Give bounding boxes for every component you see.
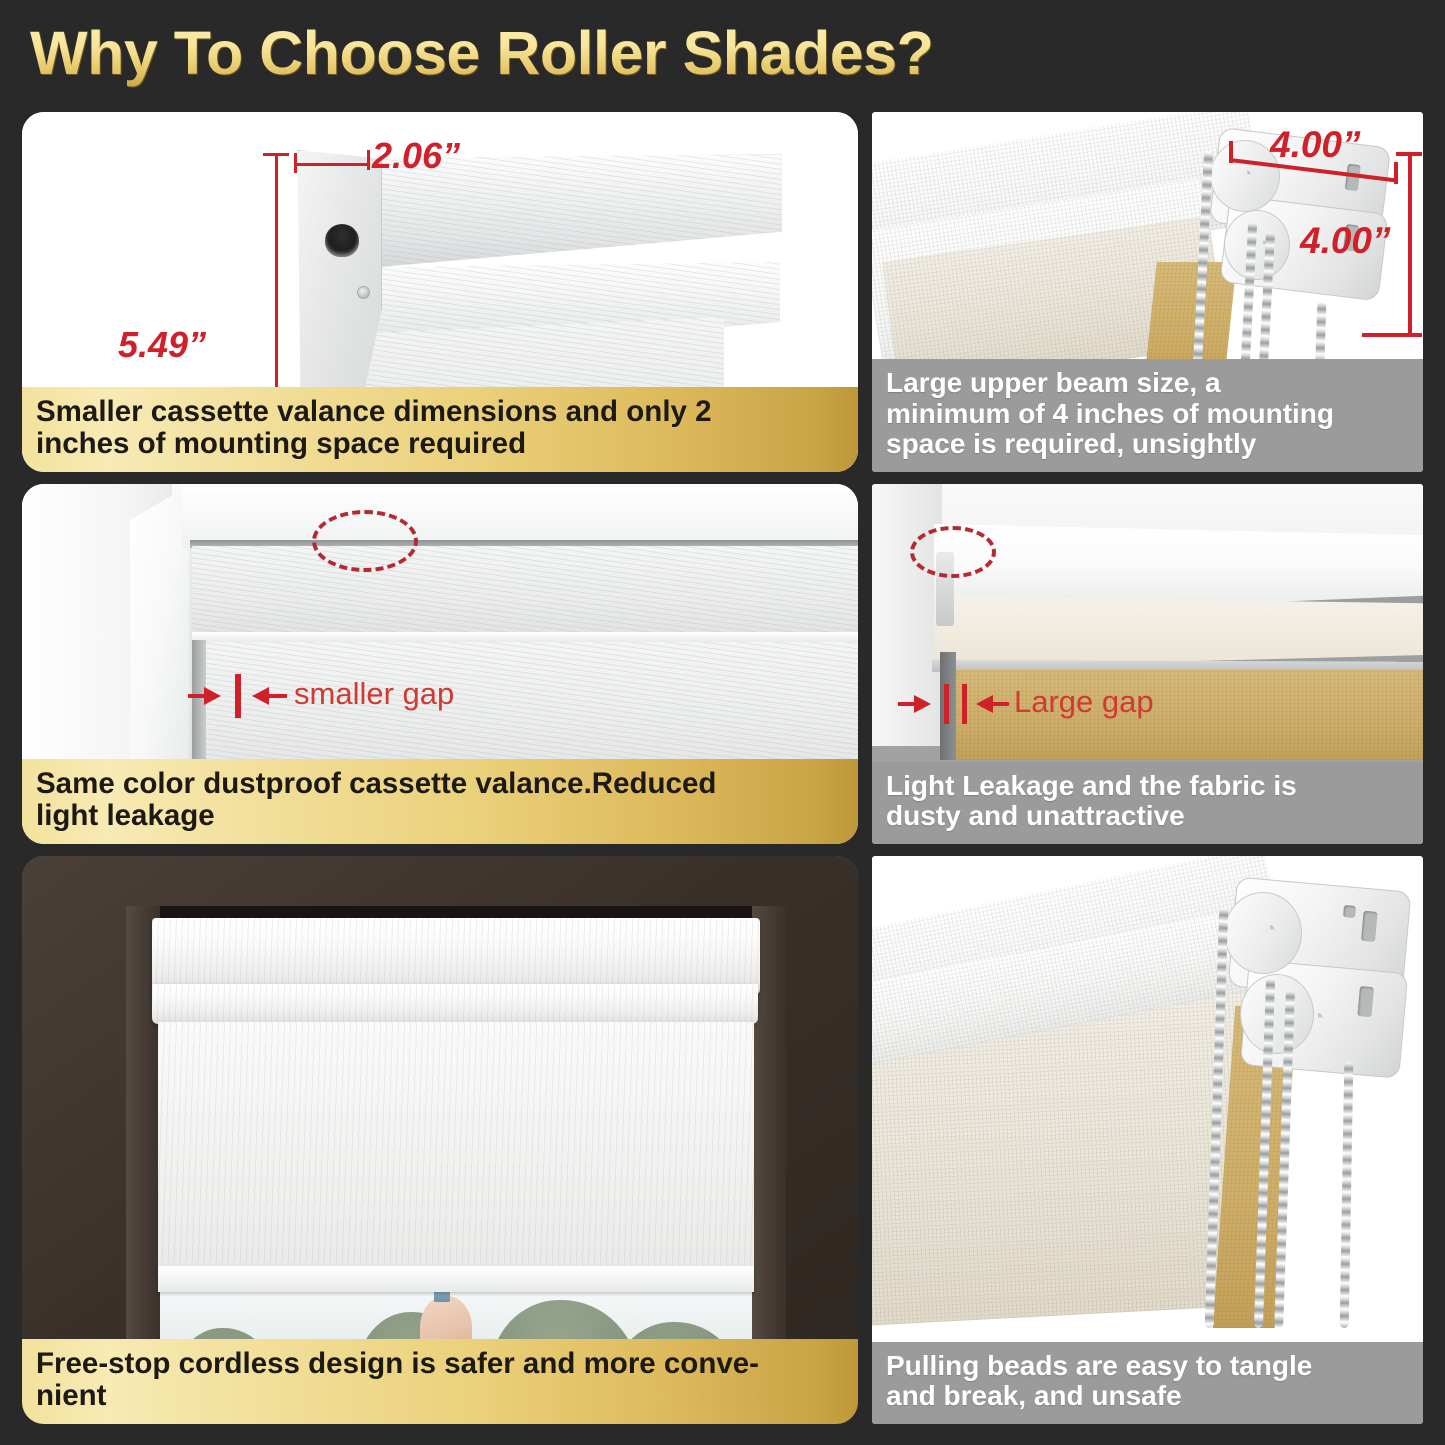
gap-marker-bar-1 — [944, 684, 949, 724]
beam-width-tick-left — [1229, 141, 1233, 163]
beam-width-label: 4.00” — [1270, 124, 1361, 166]
header-bar: Why To Choose Roller Shades? — [0, 0, 1445, 105]
panel-large-upper-beam: ◔ ◔ 4.00” 4.00” Large upper beam size, a… — [872, 112, 1423, 472]
panel-6-caption: Pulling beads are easy to tangle and bre… — [872, 1342, 1423, 1424]
gap-arrow-left-icon — [204, 687, 221, 705]
panel-pulling-beads-unsafe: ◔ ◔ Pulling beads are easy to tangle and… — [872, 856, 1423, 1424]
panel-2-caption-line-1: Large upper beam size, a — [886, 368, 1409, 399]
window-header-trim — [182, 484, 858, 548]
panel-2-caption-line-2: minimum of 4 inches of mounting — [886, 399, 1409, 430]
gap-arrow-right-icon — [252, 687, 269, 705]
bracket-lobe-lower — [1224, 210, 1290, 280]
beam-width-tick-right — [1394, 162, 1398, 184]
panel-3-caption-line-1: Same color dustproof cassette valance.Re… — [36, 768, 844, 800]
gap-marker-bar-2 — [962, 684, 967, 724]
valance-screw — [357, 286, 370, 299]
bracket-emblem-upper-icon: ◔ — [1242, 164, 1252, 184]
smaller-gap-label: smaller gap — [294, 676, 454, 712]
shade-cloth-texture — [158, 1022, 754, 1292]
panel-smaller-cassette-valance: 2.06” 5.49” Smaller cassette valance dim… — [22, 112, 858, 472]
width-dim-tick-right — [367, 150, 370, 170]
height-dimension-label: 5.49” — [118, 324, 206, 366]
gap-arrow-right-tail — [993, 702, 1009, 706]
panel-3-caption-line-2: light leakage — [36, 800, 844, 832]
beam-height-tick-bottom — [1362, 333, 1422, 337]
gap-arrow-left-icon — [914, 695, 931, 713]
panel-6-caption-line-1: Pulling beads are easy to tangle — [886, 1351, 1409, 1382]
bead-chain-roller-illustration: ◔ ◔ — [872, 856, 1423, 1424]
width-dimension-label: 2.06” — [372, 135, 460, 177]
panel-4-caption-line-1: Light Leakage and the fabric is — [886, 771, 1409, 802]
bracket-lobe-lower — [1240, 974, 1314, 1054]
valance-lip-texture — [152, 984, 758, 1024]
beam-height-tick-top — [1396, 152, 1422, 156]
panel-5-caption-line-1: Free-stop cordless design is safer and m… — [36, 1348, 844, 1380]
shade-upper-panel — [192, 546, 858, 634]
panel-light-leakage: Large gap Light Leakage and the fabric i… — [872, 484, 1423, 844]
height-dim-tick-top — [263, 153, 289, 156]
valance-mounting-hole — [325, 224, 359, 257]
beam-height-dim-line — [1408, 152, 1412, 337]
gap-arrow-right-tail — [269, 694, 287, 698]
width-dim-line — [294, 163, 370, 166]
gap-arrow-right-icon — [976, 695, 993, 713]
valance-cream-face — [934, 596, 1423, 668]
shade-valance — [152, 918, 760, 994]
shade-cloth — [158, 1022, 754, 1292]
gap-highlight-ellipse — [312, 510, 418, 572]
panel-4-caption: Light Leakage and the fabric is dusty an… — [872, 762, 1423, 844]
wall-left — [872, 484, 942, 746]
panel-2-caption: Large upper beam size, a minimum of 4 in… — [872, 359, 1423, 472]
shade-upper-texture — [192, 546, 858, 634]
valance-texture — [152, 918, 760, 994]
bracket-emblem-upper-icon: ◔ — [1264, 918, 1276, 941]
panel-5-caption: Free-stop cordless design is safer and m… — [22, 1339, 858, 1424]
bead-chain-4 — [1340, 1062, 1354, 1328]
bracket-emblem-lower-icon: ◔ — [1312, 1006, 1324, 1029]
shade-valance-lip — [152, 984, 758, 1024]
panel-2-caption-line-3: space is required, unsightly — [886, 429, 1409, 460]
panel-1-caption-line-1: Smaller cassette valance dimensions and … — [36, 396, 844, 428]
panel-5-caption-line-2: nient — [36, 1380, 844, 1412]
large-gap-label: Large gap — [1014, 684, 1154, 720]
bracket-lobe-upper — [1224, 892, 1302, 974]
panel-6-caption-line-2: and break, and unsafe — [886, 1381, 1409, 1412]
gap-arrow-left-tail — [188, 694, 206, 698]
panel-free-stop-cordless-design: Free-stop cordless design is safer and m… — [22, 856, 858, 1424]
page-title: Why To Choose Roller Shades? — [30, 18, 933, 88]
bracket-slot-bottom — [1357, 986, 1374, 1017]
beam-height-label: 4.00” — [1300, 220, 1391, 262]
panel-dustproof-cassette-valance: smaller gap Same color dustproof cassett… — [22, 484, 858, 844]
gap-arrow-left-tail — [898, 702, 916, 706]
panel-1-caption: Smaller cassette valance dimensions and … — [22, 387, 858, 472]
gap-marker-bar — [235, 674, 241, 718]
gap-highlight-ellipse — [910, 526, 996, 578]
panel-3-caption: Same color dustproof cassette valance.Re… — [22, 759, 858, 844]
shade-bottom-rail — [158, 1266, 754, 1292]
panel-4-caption-line-2: dusty and unattractive — [886, 801, 1409, 832]
panel-1-caption-line-2: inches of mounting space required — [36, 428, 844, 460]
bracket-pin-top — [1343, 905, 1356, 918]
bracket-slot-top — [1361, 911, 1378, 942]
